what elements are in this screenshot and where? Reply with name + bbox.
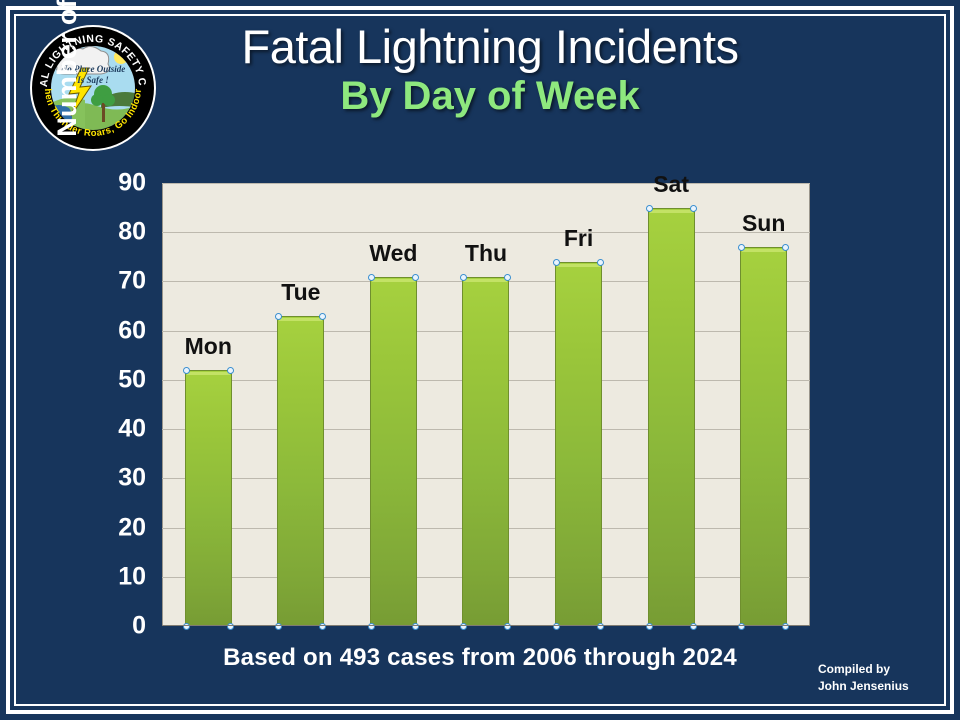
bar-wed[interactable] [370,277,417,626]
selection-handle-tr[interactable] [504,274,511,281]
bar-fri[interactable] [555,262,602,626]
y-axis-tick-label: 70 [76,267,146,296]
bar-sun[interactable] [740,247,787,626]
selection-handle-tl[interactable] [183,367,190,374]
credit-block: Compiled by John Jensenius [818,661,938,696]
bar-top-highlight [187,372,230,375]
bar-sat[interactable] [648,208,695,626]
chart-plot: 0102030405060708090 MonTueWedThuFriSatSu… [162,183,810,626]
bar-top-highlight [464,279,507,282]
selection-handle-tr[interactable] [597,259,604,266]
bar-slot: Sun [717,183,810,626]
y-axis-tick-label: 50 [76,365,146,394]
bar-label-sun: Sun [691,210,836,237]
bar-slot: Mon [162,183,255,626]
y-axis-tick-label: 80 [76,218,146,247]
bar-thu[interactable] [462,277,509,626]
bar-top-highlight [742,249,785,252]
y-axis-tick-label: 20 [76,513,146,542]
credit-line-1: Compiled by [818,661,938,678]
bar-top-highlight [372,279,415,282]
bar-series: MonTueWedThuFriSatSun [162,183,810,626]
title-block: Fatal Lightning Incidents By Day of Week [170,22,810,119]
bar-top-highlight [650,210,693,213]
bar-mon[interactable] [185,370,232,626]
selection-handle-tl[interactable] [368,274,375,281]
selection-handle-tr[interactable] [412,274,419,281]
bar-top-highlight [279,318,322,321]
page-subtitle: By Day of Week [170,73,810,119]
selection-handle-tl[interactable] [553,259,560,266]
credit-line-2: John Jensenius [818,678,938,695]
y-axis-tick-label: 0 [76,612,146,641]
page-title: Fatal Lightning Incidents [170,22,810,71]
selection-handle-tr[interactable] [319,313,326,320]
y-axis-tick-label: 30 [76,464,146,493]
selection-handle-tr[interactable] [782,244,789,251]
x-axis-line [162,625,810,626]
selection-handle-tl[interactable] [646,205,653,212]
y-axis-tick-label: 10 [76,562,146,591]
bar-slot: Fri [532,183,625,626]
bar-tue[interactable] [277,316,324,626]
chart-caption: Based on 493 cases from 2006 through 202… [0,644,960,672]
y-axis-tick-label: 40 [76,415,146,444]
selection-handle-tr[interactable] [227,367,234,374]
y-axis-tick-label: 90 [76,169,146,198]
bar-slot: Sat [625,183,718,626]
slide-canvas: No Place Outside Is Safe ! NATIONAL LIGH… [0,0,960,720]
bar-top-highlight [557,264,600,267]
